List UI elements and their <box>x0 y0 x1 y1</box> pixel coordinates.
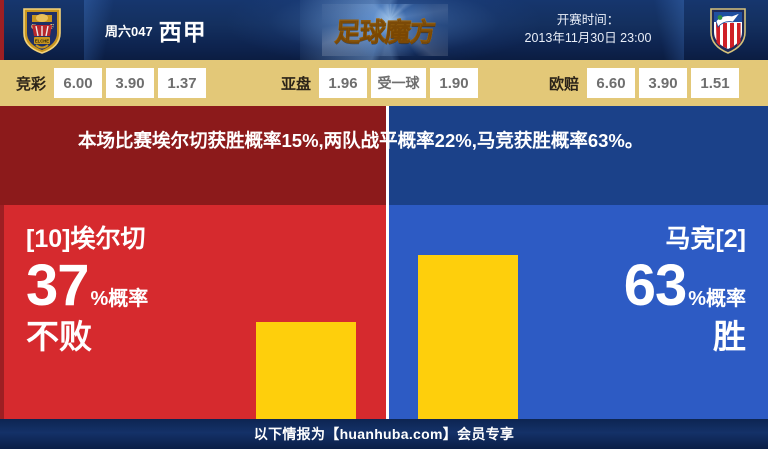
away-percent-number: 63 <box>624 257 687 315</box>
odds-group-jingcai: 竞彩 6.00 3.90 1.37 <box>16 67 206 99</box>
away-percent-unit: %概率 <box>688 289 746 309</box>
odds-group-label: 竞彩 <box>16 73 46 94</box>
chart-divider <box>386 205 389 419</box>
svg-text:ELCHE: ELCHE <box>35 39 49 44</box>
left-red-edge-strip-lower <box>0 205 4 419</box>
odds-cell[interactable]: 3.90 <box>106 68 154 98</box>
odds-cell[interactable]: 1.51 <box>691 68 739 98</box>
home-percent-number: 37 <box>26 257 89 315</box>
home-probability-bar <box>256 322 356 419</box>
away-percent-row: 63 %概率 <box>624 257 746 315</box>
header-bar: C F ELCHE 周六047 西甲 足球魔方 开赛时间： 2013年11月30… <box>0 0 768 60</box>
match-probability-infographic: C F ELCHE 周六047 西甲 足球魔方 开赛时间： 2013年11月30… <box>0 0 768 449</box>
odds-cell[interactable]: 3.90 <box>639 68 687 98</box>
probability-summary-banner: 本场比赛埃尔切获胜概率15%,两队战平概率22%,马竞获胜概率63%。 <box>0 106 768 205</box>
probability-bar-chart: [10]埃尔切 37 %概率 不败 马竞[2] 63 %概率 胜 <box>0 205 768 419</box>
home-percent-unit: %概率 <box>91 289 149 309</box>
odds-cell[interactable]: 1.96 <box>319 68 367 98</box>
left-red-edge-strip <box>0 0 4 60</box>
footer-membership-note: 以下情报为【huanhuba.com】会员专享 <box>254 424 514 444</box>
odds-group-label: 欧赔 <box>549 73 579 94</box>
odds-cell[interactable]: 1.37 <box>158 68 206 98</box>
kickoff-label: 开赛时间： <box>500 11 676 29</box>
banner-summary-text: 本场比赛埃尔切获胜概率15%,两队战平概率22%,马竞获胜概率63%。 <box>78 125 708 157</box>
away-team-name: 马竞[2] <box>624 223 746 255</box>
home-verdict: 不败 <box>26 317 148 357</box>
brand-logo-text: 足球魔方 <box>334 12 437 49</box>
match-title: 周六047 西甲 <box>105 12 207 48</box>
odds-cell[interactable]: 1.90 <box>430 68 478 98</box>
odds-cell-handicap[interactable]: 受一球 <box>371 68 426 98</box>
odds-cell[interactable]: 6.00 <box>54 68 102 98</box>
home-team-name: [10]埃尔切 <box>26 223 148 255</box>
footer-bar: 以下情报为【huanhuba.com】会员专享 <box>0 419 768 449</box>
odds-bar: 竞彩 6.00 3.90 1.37 亚盘 1.96 受一球 1.90 欧赔 6.… <box>0 60 768 106</box>
odds-group-label: 亚盘 <box>281 73 311 94</box>
home-team-crest-elche: C F ELCHE <box>16 5 68 55</box>
away-verdict: 胜 <box>624 317 746 357</box>
home-stats-block: [10]埃尔切 37 %概率 不败 <box>26 223 148 357</box>
odds-cell[interactable]: 6.60 <box>587 68 635 98</box>
kickoff-value: 2013年11月30日 23:00 <box>500 29 676 47</box>
kickoff-time-block: 开赛时间： 2013年11月30日 23:00 <box>500 11 676 47</box>
odds-group-yapan: 亚盘 1.96 受一球 1.90 <box>281 67 478 99</box>
away-stats-block: 马竞[2] 63 %概率 胜 <box>624 223 746 357</box>
away-team-crest-atletico <box>702 5 754 55</box>
odds-group-oupei: 欧赔 6.60 3.90 1.51 <box>549 67 739 99</box>
league-name: 西甲 <box>159 13 207 47</box>
match-round-label: 周六047 <box>105 21 153 40</box>
brand-logo: 足球魔方 <box>322 4 448 56</box>
home-percent-row: 37 %概率 <box>26 257 148 315</box>
away-probability-bar <box>418 255 518 419</box>
